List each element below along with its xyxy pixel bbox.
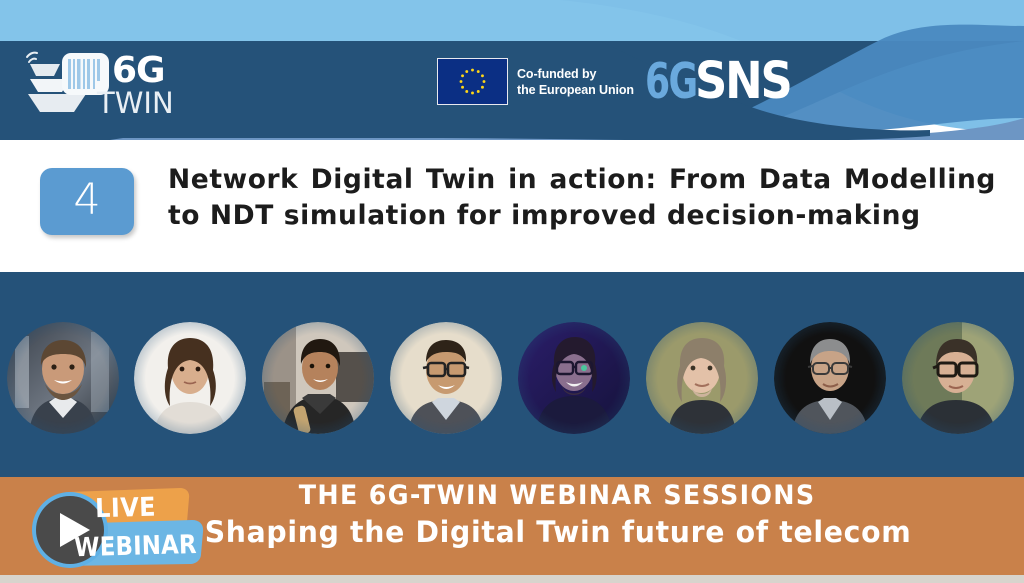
avatar — [7, 322, 119, 434]
speaker-photo-6 — [646, 322, 758, 434]
live-label: LIVE — [95, 492, 157, 524]
speaker-photo-2 — [134, 322, 246, 434]
avatar — [518, 322, 630, 434]
eu-funding-line1: Co-funded by — [517, 66, 634, 82]
sns-logo-prefix: 6G — [645, 53, 697, 110]
svg-text:TWIN: TWIN — [96, 86, 174, 118]
avatar — [646, 322, 758, 434]
session-number: 4 — [73, 179, 100, 225]
6g-twin-logo: 6G TWIN — [14, 40, 179, 118]
avatar — [390, 322, 502, 434]
speaker-photo-8 — [902, 322, 1014, 434]
footer-bottom-strip — [0, 575, 1024, 583]
eu-funding-line2: the European Union — [517, 82, 634, 98]
sns-logo-suffix: SNS — [695, 52, 791, 111]
avatar — [262, 322, 374, 434]
eu-funding-block: Co-funded by the European Union — [437, 58, 634, 105]
title-section: 4 Network Digital Twin in action: From D… — [0, 140, 1024, 272]
speaker-photo-7 — [774, 322, 886, 434]
svg-text:6G: 6G — [112, 50, 165, 91]
speaker-photo-4 — [390, 322, 502, 434]
eu-funding-text: Co-funded by the European Union — [517, 66, 634, 98]
live-webinar-badge: LIVE WEBINAR — [20, 484, 230, 572]
avatar — [134, 322, 246, 434]
speaker-photo-1 — [7, 322, 119, 434]
speaker-photo-5 — [518, 322, 630, 434]
webinar-promo-slide: 6G TWIN — [0, 0, 1024, 583]
webinar-label: WEBINAR — [74, 529, 197, 563]
speakers-band — [0, 272, 1024, 477]
avatar — [774, 322, 886, 434]
session-number-badge: 4 — [40, 168, 134, 235]
speaker-photo-3 — [262, 322, 374, 434]
page-title: Network Digital Twin in action: From Dat… — [168, 162, 996, 235]
avatar — [902, 322, 1014, 434]
speakers-avatar-row — [0, 272, 1024, 477]
eu-flag-icon — [437, 58, 508, 105]
6g-sns-logo: 6GSNS — [645, 52, 804, 111]
